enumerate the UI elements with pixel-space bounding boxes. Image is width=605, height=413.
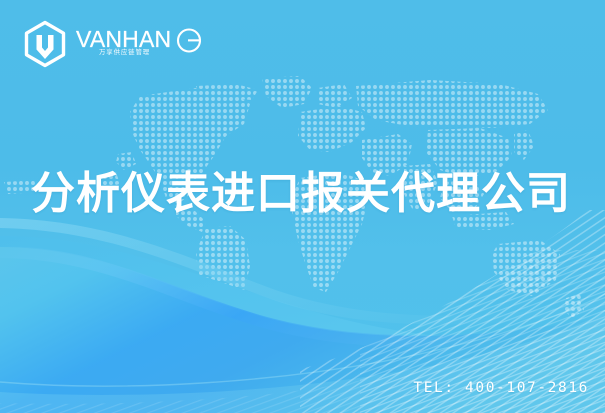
vanhang-hexagon-mark <box>22 20 68 68</box>
promo-banner: VANHAN 万享供应链管理 分析仪表进口报关代理公司 TEL: 400-107… <box>0 0 605 413</box>
logo-text-block: VANHAN 万享供应链管理 <box>76 23 201 65</box>
contact-telephone: TEL: 400-107-2816 <box>413 380 589 396</box>
company-logo[interactable]: VANHAN 万享供应链管理 <box>22 20 201 68</box>
page-title: 分析仪表进口报关代理公司 <box>31 168 571 220</box>
logo-subtitle: 万享供应链管理 <box>99 49 150 55</box>
